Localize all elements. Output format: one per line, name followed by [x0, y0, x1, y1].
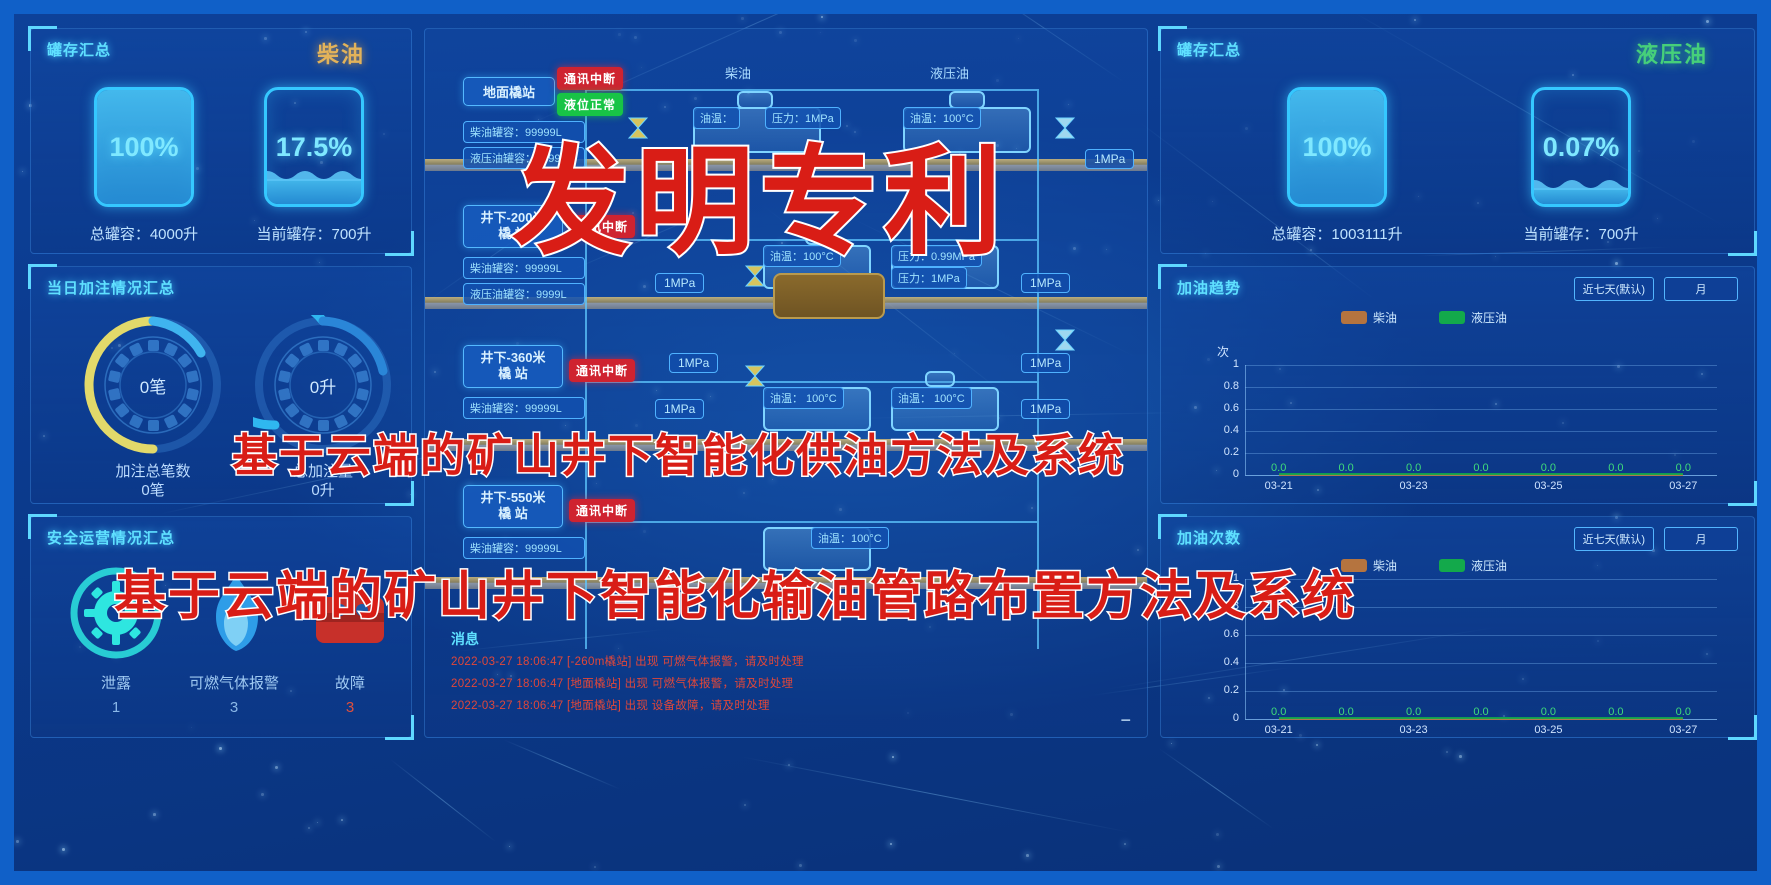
chart-y-tick-label: 0.6	[1213, 628, 1239, 640]
safety-item-label: 故障	[275, 672, 425, 693]
donut-center-value: 0笔	[83, 315, 223, 455]
chart-series-line	[1279, 473, 1684, 475]
message-row: 2022-03-27 18:06:47 [地面橇站] 出现 可燃气体报警，请及时…	[451, 675, 793, 691]
messages-title: 消息	[451, 629, 479, 649]
chart-series-line	[1279, 717, 1684, 719]
tank-shape: 100%	[94, 87, 194, 207]
panel-title-tank-summary-left: 罐存汇总	[47, 39, 111, 60]
zoom-out-button[interactable]: −	[1120, 710, 1131, 731]
dashboard-canvas: 罐存汇总 柴油 100% 总罐容：4000升 17.5% 当前罐存：700升	[14, 14, 1757, 871]
label-product-diesel: 柴油	[725, 63, 751, 82]
tank-shape: 100%	[1287, 87, 1387, 207]
pressure-tag-1: 1MPa	[1085, 149, 1134, 169]
donut-label-line1: 加注总笔数	[63, 463, 243, 482]
chart-y-tick-label: 0.2	[1213, 684, 1239, 696]
tank-shape: 0.07%	[1531, 87, 1631, 207]
valve-icon-5	[1055, 329, 1075, 351]
donut-label-line2: 0升	[233, 482, 413, 501]
pressure-tag-5: 1MPa	[1021, 353, 1070, 373]
dashboard-screen: 罐存汇总 柴油 100% 总罐容：4000升 17.5% 当前罐存：700升	[0, 0, 1771, 885]
tank-percent-label: 100%	[97, 90, 191, 204]
station-badge-550m-comm: 通讯中断	[569, 499, 635, 522]
chart-x-tick-label: 03-27	[1658, 480, 1708, 492]
tank-gauge-total-capacity-right[interactable]: 100% 总罐容：1003111升	[1257, 87, 1417, 244]
chart-x-tick-label: 03-23	[1389, 724, 1439, 736]
station-node-surface[interactable]: 地面橇站	[463, 77, 555, 106]
range-button-month-bottom[interactable]: 月	[1664, 527, 1738, 551]
donut-label-line2: 0笔	[63, 482, 243, 501]
station-node-line1: 井下-550米	[472, 490, 554, 506]
tank-percent-label: 17.5%	[267, 90, 361, 204]
chart-gridline	[1245, 431, 1717, 432]
chart-y-axis	[1245, 365, 1246, 475]
donut-gauge-refuel-count[interactable]: 0笔	[83, 315, 223, 455]
station-node-line1: 井下-360米	[472, 350, 554, 366]
panel-title-refuel-count: 加油次数	[1177, 527, 1241, 548]
panel-product-diesel: 柴油	[317, 37, 365, 69]
chart-gridline	[1245, 365, 1717, 366]
chart-y-tick-label: 0.4	[1213, 656, 1239, 668]
tank-caption: 总罐容：1003111升	[1257, 223, 1417, 244]
chart-gridline	[1245, 409, 1717, 410]
watermark-title-1: 基于云端的矿山井下智能化供油方法及系统	[232, 419, 1125, 484]
chart-y-tick-label: 0.2	[1213, 446, 1239, 458]
chart-plot-refuel-trend[interactable]: 00.20.40.60.810.00.00.00.00.00.00.003-21…	[1245, 365, 1717, 475]
valve-icon-2	[1055, 117, 1075, 139]
watermark-title-2: 基于云端的矿山井下智能化输油管路布置方法及系统	[114, 554, 1356, 629]
range-button-seven-days-bottom[interactable]: 近七天(默认)	[1574, 527, 1654, 551]
panel-right-tank-summary: 罐存汇总 液压油 100% 总罐容：1003111升 0.07% 当前罐存：70…	[1160, 28, 1755, 254]
safety-item-value: 3	[275, 699, 425, 716]
tank-caption: 当前罐存：700升	[249, 223, 379, 244]
pressure-tag-7: 1MPa	[1021, 399, 1070, 419]
panel-title-safety: 安全运营情况汇总	[47, 527, 175, 548]
legend-swatch-hydraulic	[1439, 559, 1465, 572]
readout-360m-temp-b: 油温： 100°C	[891, 387, 972, 409]
legend-swatch-diesel	[1341, 311, 1367, 324]
panel-refuel-trend-chart: 加油趋势 近七天(默认) 月 柴油 液压油 次 00.20.40.60.810.…	[1160, 266, 1755, 504]
range-button-seven-days-top[interactable]: 近七天(默认)	[1574, 277, 1654, 301]
legend-item-hydraulic-bottom[interactable]: 液压油	[1439, 557, 1507, 574]
center-storage-tank	[773, 273, 885, 319]
legend-label-hydraulic: 液压油	[1471, 309, 1507, 326]
station-chip-200m-hydraulic: 液压油罐容：9999L	[463, 283, 585, 305]
tank-caption: 当前罐存：700升	[1501, 223, 1661, 244]
chart-x-tick-label: 03-21	[1254, 480, 1304, 492]
chart-gridline	[1245, 635, 1717, 636]
panel-title-tank-summary-right: 罐存汇总	[1177, 39, 1241, 60]
panel-title-refuel-trend: 加油趋势	[1177, 277, 1241, 298]
legend-item-hydraulic-top[interactable]: 液压油	[1439, 309, 1507, 326]
tank-percent-label: 0.07%	[1534, 90, 1628, 204]
range-button-month-top[interactable]: 月	[1664, 277, 1738, 301]
panel-left-tank-summary: 罐存汇总 柴油 100% 总罐容：4000升 17.5% 当前罐存：700升	[30, 28, 412, 254]
pipe-horizontal-550m	[585, 521, 1037, 523]
station-node-line2: 橇 站	[472, 366, 554, 382]
chart-x-tick-label: 03-27	[1658, 724, 1708, 736]
chart-gridline	[1245, 663, 1717, 664]
legend-label-hydraulic: 液压油	[1471, 557, 1507, 574]
chart-y-tick-label: 0	[1213, 468, 1239, 480]
chart-y-tick-label: 0.8	[1213, 380, 1239, 392]
pressure-tag-6: 1MPa	[655, 399, 704, 419]
station-node-550m[interactable]: 井下-550米 橇 站	[463, 485, 563, 528]
station-badge-surface-comm: 通讯中断	[557, 67, 623, 90]
pressure-tag-4: 1MPa	[669, 353, 718, 373]
watermark-patent: 发明专利	[512, 106, 1008, 277]
tank-gauge-current-stock-right[interactable]: 0.07% 当前罐存：700升	[1501, 87, 1661, 244]
chart-gridline	[1245, 387, 1717, 388]
chart-x-tick-label: 03-21	[1254, 724, 1304, 736]
chart-gridline	[1245, 691, 1717, 692]
donut-label-refuel-count: 加注总笔数 0笔	[63, 463, 243, 501]
station-badge-360m-comm: 通讯中断	[569, 359, 635, 382]
label-product-hydraulic: 液压油	[930, 63, 969, 82]
tank-gauge-current-stock-left[interactable]: 17.5% 当前罐存：700升	[249, 87, 379, 244]
vessel-cap-360m	[925, 371, 955, 387]
tank-percent-label: 100%	[1290, 90, 1384, 204]
legend-label-diesel: 柴油	[1373, 309, 1397, 326]
readout-360m-temp-a: 油温： 100°C	[763, 387, 844, 409]
legend-label-diesel: 柴油	[1373, 557, 1397, 574]
chart-x-tick-label: 03-25	[1523, 724, 1573, 736]
chart-y-tick-label: 0	[1213, 712, 1239, 724]
chart-x-tick-label: 03-23	[1389, 480, 1439, 492]
legend-item-diesel-top[interactable]: 柴油	[1341, 309, 1397, 326]
tank-gauge-total-capacity-left[interactable]: 100% 总罐容：4000升	[79, 87, 209, 244]
chart-y-tick-label: 0.4	[1213, 424, 1239, 436]
legend-swatch-hydraulic	[1439, 311, 1465, 324]
station-node-line2: 橇 站	[472, 506, 554, 522]
tank-shape: 17.5%	[264, 87, 364, 207]
chart-x-tick-label: 03-25	[1523, 480, 1573, 492]
readout-550m-temp: 油温：100°C	[811, 527, 889, 549]
pipe-horizontal-360m	[585, 381, 1037, 383]
panel-title-refuel-today: 当日加注情况汇总	[47, 277, 175, 298]
message-row: 2022-03-27 18:06:47 [-260m橇站] 出现 可燃气体报警，…	[451, 653, 804, 669]
station-chip-360m-diesel: 柴油罐容：99999L	[463, 397, 585, 419]
station-node-360m[interactable]: 井下-360米 橇 站	[463, 345, 563, 388]
pressure-tag-3: 1MPa	[1021, 273, 1070, 293]
chart-gridline	[1245, 453, 1717, 454]
chart-y-tick-label: 1	[1213, 358, 1239, 370]
valve-icon-4	[745, 365, 765, 387]
chart-y-tick-label: 0.6	[1213, 402, 1239, 414]
message-row: 2022-03-27 18:06:47 [地面橇站] 出现 设备故障，请及时处理	[451, 697, 770, 713]
panel-product-hydraulic: 液压油	[1636, 37, 1708, 69]
tank-caption: 总罐容：4000升	[79, 223, 209, 244]
